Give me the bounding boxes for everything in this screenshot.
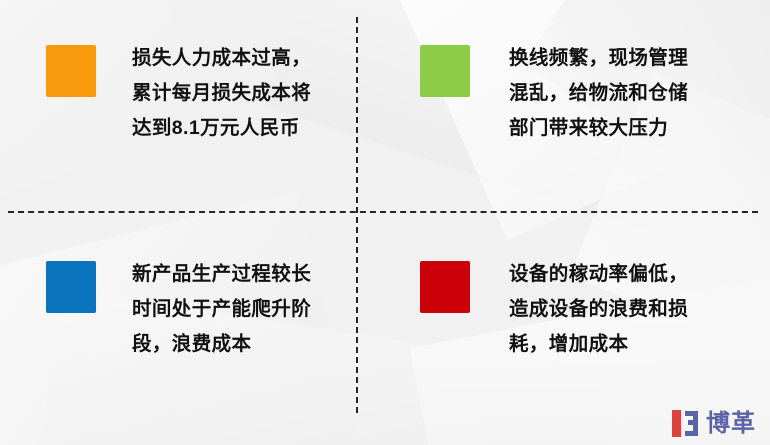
logo-bar-shape [672,410,681,437]
text-line: 新产品生产过程较长 [132,257,311,292]
vertical-dashed-divider [356,17,358,413]
red-swatch [420,261,470,313]
slide-canvas: 损失人力成本过高， 累计每月损失成本将 达到8.1万元人民币 换线频繁，现场管理… [0,0,770,445]
text-line: 达到8.1万元人民币 [132,111,311,146]
bogo-logo-icon [672,410,699,437]
orange-swatch [46,45,96,97]
blue-swatch [46,261,96,313]
brand-logo: 博革 [672,410,756,437]
quadrant-top-right: 换线频繁，现场管理 混乱，给物流和仓储 部门带来较大压力 [420,41,725,146]
quadrant-bottom-left: 新产品生产过程较长 时间处于产能爬升阶 段，浪费成本 [46,257,346,362]
text-line: 损失人力成本过高， [132,41,311,76]
quadrant-text-top-right: 换线频繁，现场管理 混乱，给物流和仓储 部门带来较大压力 [509,41,688,146]
text-line: 混乱，给物流和仓储 [509,76,688,111]
text-line: 换线频繁，现场管理 [509,41,688,76]
text-line: 段，浪费成本 [132,327,311,362]
text-line: 设备的稼动率偏低， [509,257,688,292]
quadrant-text-bottom-left: 新产品生产过程较长 时间处于产能爬升阶 段，浪费成本 [132,257,311,362]
text-line: 时间处于产能爬升阶 [132,292,311,327]
quadrant-top-left: 损失人力成本过高， 累计每月损失成本将 达到8.1万元人民币 [46,41,346,146]
green-swatch [420,45,470,97]
quadrant-bottom-right: 设备的稼动率偏低， 造成设备的浪费和损 耗，增加成本 [420,257,725,362]
horizontal-dashed-divider [8,211,758,213]
logo-g-shape [682,410,699,437]
text-line: 部门带来较大压力 [509,111,688,146]
quadrant-text-top-left: 损失人力成本过高， 累计每月损失成本将 达到8.1万元人民币 [132,41,311,146]
logo-wordmark: 博革 [706,410,756,437]
quadrant-text-bottom-right: 设备的稼动率偏低， 造成设备的浪费和损 耗，增加成本 [509,257,688,362]
text-line: 累计每月损失成本将 [132,76,311,111]
text-line: 造成设备的浪费和损 [509,292,688,327]
text-line: 耗，增加成本 [509,327,688,362]
